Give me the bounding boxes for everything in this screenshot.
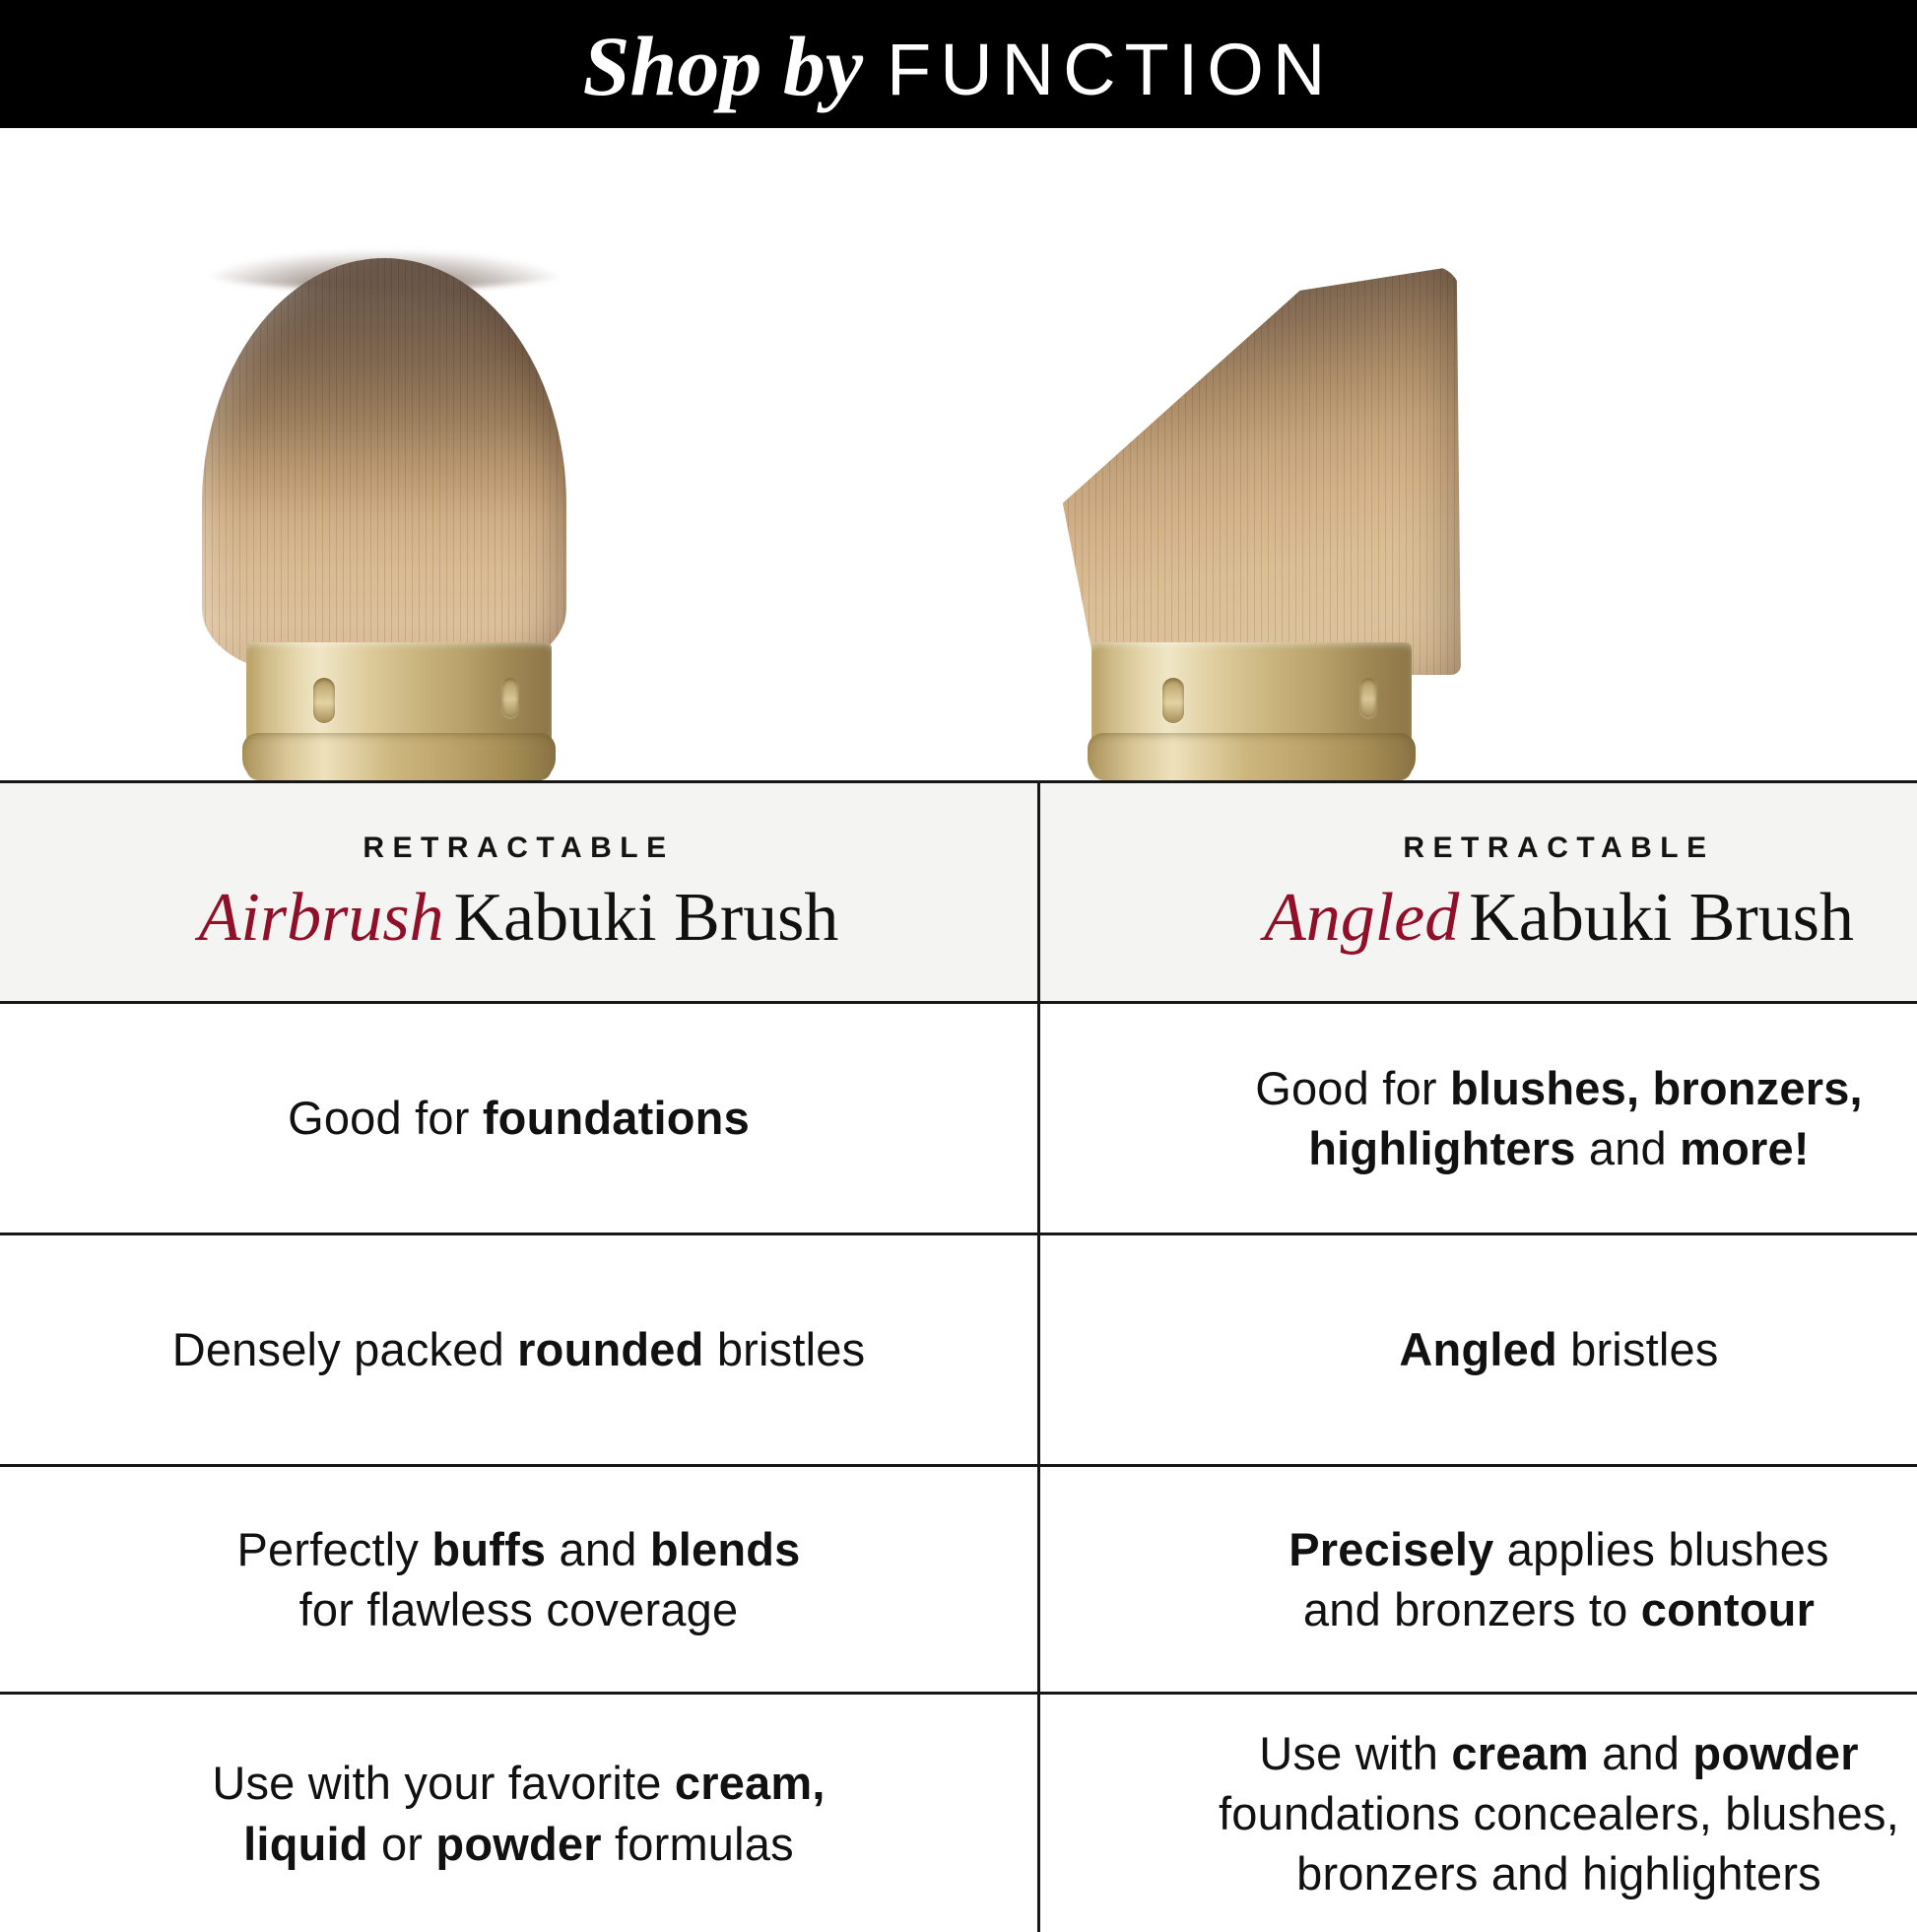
feature-text-bold: blends [650,1523,801,1575]
gold-ferrule [1091,642,1412,780]
rounded-kabuki-brush-graphic [187,258,581,780]
feature-text-bold: foundations [483,1092,750,1144]
product-eyebrow-label: RETRACTABLE [1080,832,1917,865]
ferrule-base-band [1088,733,1416,780]
feature-text-bold: liquid [243,1818,368,1870]
feature-text: and bronzers to [1303,1583,1641,1635]
feature-text: and [1576,1122,1681,1174]
feature-text: formulas [602,1818,794,1870]
table-row-good-for: Good for foundations Good for blushes, b… [0,1003,1917,1234]
product-image-angled-kabuki [958,128,1917,780]
feature-cell-left-bristles: Densely packed rounded bristles [0,1234,1039,1466]
feature-text: or [368,1818,436,1870]
feature-text: Densely packed [172,1323,517,1375]
feature-text: Use with [1259,1727,1451,1779]
table-row-formulas: Use with your favorite cream, liquid or … [0,1694,1917,1932]
product-eyebrow-label: RETRACTABLE [39,832,998,865]
rounded-bristles [202,258,566,672]
feature-text-bold: highlighters [1308,1122,1575,1174]
product-comparison-table: RETRACTABLE AirbrushKabuki Brush RETRACT… [0,780,1917,1932]
page-title-caps: FUNCTION [887,33,1334,106]
product-name-rest: Kabuki Brush [1469,880,1854,956]
product-name-rest: Kabuki Brush [454,880,839,956]
feature-text-bold: buffs [431,1523,546,1575]
table-row-application: Perfectly buffs and blends for flawless … [0,1466,1917,1694]
feature-cell-right-bristles: Angled bristles [1039,1234,1917,1466]
product-name: AngledKabuki Brush [1080,883,1917,953]
feature-text-bold: Precisely [1289,1523,1493,1575]
product-image-strip [0,128,1917,780]
feature-text: applies blushes [1494,1523,1829,1575]
ferrule-base-band [242,733,556,780]
feature-text: Perfectly [237,1523,432,1575]
feature-text-bold: rounded [517,1323,703,1375]
ferrule-notch-icon [313,678,335,723]
ferrule-notch-icon [1162,678,1184,723]
feature-text-bold: Angled [1399,1323,1556,1375]
feature-text-bold: more! [1680,1122,1810,1174]
feature-text: Good for [1255,1062,1450,1114]
feature-text: bristles [1557,1323,1719,1375]
feature-cell-right-application: Precisely applies blushes and bronzers t… [1039,1466,1917,1694]
feature-text: bristles [704,1323,866,1375]
feature-text-bold: cream, [675,1757,826,1809]
page-header-banner: Shop byFUNCTION [0,0,1917,128]
feature-text-bold: cream [1451,1727,1589,1779]
feature-cell-left-formulas: Use with your favorite cream, liquid or … [0,1694,1039,1932]
feature-text: Use with your favorite [212,1757,675,1809]
feature-text: bronzers and highlighters [1296,1847,1821,1899]
feature-cell-right-good-for: Good for blushes, bronzers, highlighters… [1039,1003,1917,1234]
ferrule-side-notch-icon [1360,678,1376,717]
feature-text: for flawless coverage [299,1583,739,1635]
feature-text-bold: blushes, bronzers, [1450,1062,1863,1114]
product-name: AirbrushKabuki Brush [39,883,998,953]
page-title-script: Shop by [583,24,887,108]
feature-text-bold: powder [435,1818,601,1870]
feature-text: Good for [288,1092,483,1144]
gold-ferrule [246,642,552,780]
feature-cell-right-formulas: Use with cream and powder foundations co… [1039,1694,1917,1932]
feature-text: foundations concealers, blushes, [1219,1787,1899,1839]
angled-bristles [1037,266,1461,675]
product-image-rounded-kabuki [0,128,958,780]
product-header-cell-airbrush[interactable]: RETRACTABLE AirbrushKabuki Brush [0,782,1039,1003]
feature-text: and [546,1523,650,1575]
product-name-accent: Angled [1264,880,1469,956]
feature-cell-left-good-for: Good for foundations [0,1003,1039,1234]
table-row-bristles: Densely packed rounded bristles Angled b… [0,1234,1917,1466]
ferrule-side-notch-icon [502,678,518,717]
feature-text: and [1589,1727,1693,1779]
product-name-accent: Airbrush [199,880,454,956]
product-header-cell-angled[interactable]: RETRACTABLE AngledKabuki Brush [1039,782,1917,1003]
table-row-product-names: RETRACTABLE AirbrushKabuki Brush RETRACT… [0,782,1917,1003]
feature-text-bold: contour [1641,1583,1815,1635]
angled-kabuki-brush-graphic [1018,258,1481,780]
feature-text-bold: powder [1692,1727,1858,1779]
page-title: Shop byFUNCTION [583,24,1335,108]
feature-cell-left-application: Perfectly buffs and blends for flawless … [0,1466,1039,1694]
